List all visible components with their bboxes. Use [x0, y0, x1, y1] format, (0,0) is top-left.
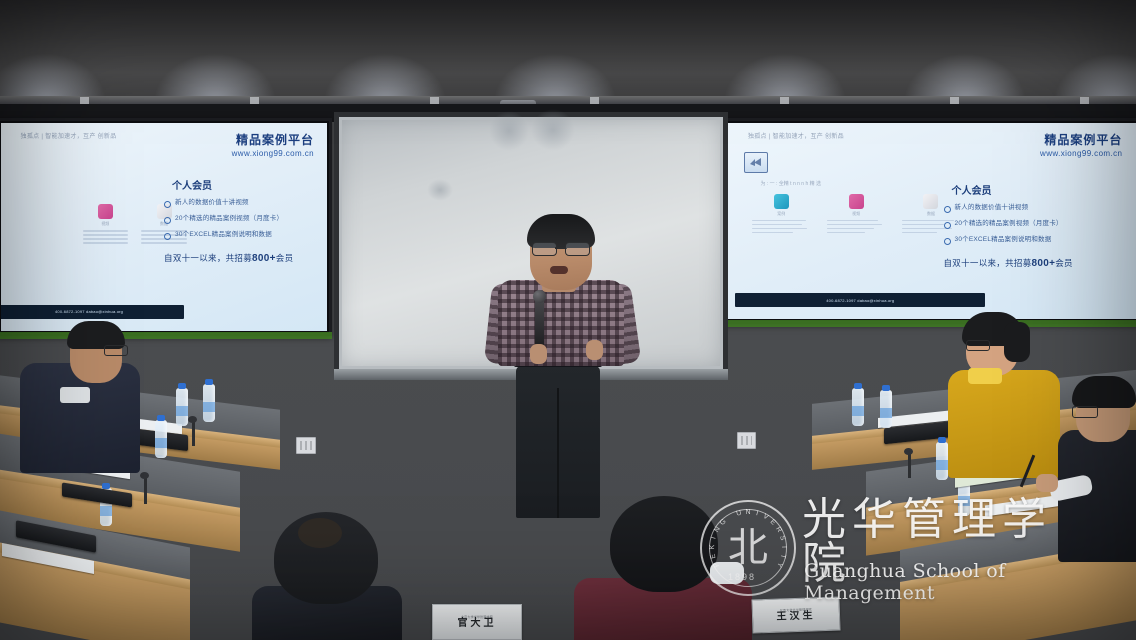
water-bottle — [176, 388, 188, 426]
slide-footer: 自双十一以来，共招募800+会员 — [164, 252, 320, 264]
slide-bullet: 20个精选的精品案例视频（月度卡） — [944, 220, 1127, 229]
slide-contact-bar: 400-6872-1097 dabao@xinhua.org — [735, 293, 985, 307]
case-icon — [98, 204, 113, 219]
wall-outlet-left — [296, 437, 316, 454]
bullet-circle-icon — [164, 201, 171, 208]
eyeglasses-icon — [1072, 406, 1098, 418]
slide-contact-bar: 400-6872-1097 dabao@xinhua.org — [1, 305, 184, 319]
wall-outlet-right — [737, 432, 756, 449]
presentation-pointer-icon — [744, 152, 768, 173]
eyeglasses-icon — [966, 340, 990, 351]
slide-section-title: 个人会员 — [944, 182, 1127, 197]
panelist-left — [20, 325, 150, 475]
slide-brand-url: www.xiong99.com.cn — [232, 149, 314, 158]
desk-microphone — [908, 452, 911, 478]
slide-sub-line: 为 : 一 : 全精 t n n n h 精 选 — [760, 180, 821, 187]
lecture-hall-video-frame: 独孤点 | 智能加速才，互产 创新品 精品案例平台 www.xiong99.co… — [0, 0, 1136, 640]
case-icon — [849, 194, 864, 209]
slide-right: 独孤点 | 智能加速才，互产 创新品 精品案例平台 www.xiong99.co… — [723, 123, 1136, 319]
presenter — [480, 218, 645, 518]
slide-bullet: 新人的数据价值十讲视频 — [944, 204, 1127, 213]
slide-bullet: 新人的数据价值十讲视频 — [164, 199, 320, 208]
water-bottle — [203, 384, 215, 422]
nameplate-left: 北京大学光华管理学院 官大卫 — [432, 604, 522, 640]
nameplate-right: 北京大学光华管理学院 王汉生 — [751, 596, 840, 633]
slide-bullet: 20个精选的精品案例视频（月度卡） — [164, 215, 320, 224]
slide-section-title: 个人会员 — [164, 177, 320, 192]
water-bottle — [880, 390, 892, 428]
bullet-circle-icon — [944, 222, 951, 229]
bullet-circle-icon — [944, 238, 951, 245]
slide-brand-title: 精品案例平台 — [1040, 131, 1122, 148]
slide-card: 视频 — [83, 204, 129, 246]
projection-screen-right: 独孤点 | 智能加速才，互产 创新品 精品案例平台 www.xiong99.co… — [718, 118, 1136, 324]
projection-screen-left: 独孤点 | 智能加速才，互产 创新品 精品案例平台 www.xiong99.co… — [0, 118, 332, 336]
attendee-right — [1062, 382, 1136, 562]
ceiling — [0, 0, 1136, 104]
slide-brand-url: www.xiong99.com.cn — [1040, 149, 1122, 158]
slide-header-note: 独孤点 | 智能加速才，互产 创新品 — [748, 131, 844, 140]
slide-footer: 自双十一以来，共招募800+会员 — [944, 257, 1127, 269]
hand — [1036, 474, 1058, 492]
attendee-front-left — [262, 512, 392, 640]
slide-bullet: 30个EXCEL精品案例说明和数据 — [164, 231, 320, 240]
desk-microphone-head — [904, 448, 913, 455]
slide-brand: 精品案例平台 www.xiong99.com.cn — [1040, 131, 1122, 158]
desk-microphone — [144, 476, 147, 504]
shirt-collar — [710, 562, 744, 584]
water-bottle — [852, 388, 864, 426]
water-bottle — [155, 420, 167, 458]
eyeglasses-icon — [104, 345, 128, 356]
slide-brand: 精品案例平台 www.xiong99.com.cn — [232, 131, 314, 158]
slide-brand-title: 精品案例平台 — [232, 131, 314, 148]
slide-header-note: 独孤点 | 智能加速才，互产 创新品 — [21, 131, 117, 140]
desk-microphone — [192, 420, 195, 446]
eyeglasses-icon — [532, 242, 590, 254]
slide-bullet: 30个EXCEL精品案例说明和数据 — [944, 236, 1127, 245]
slide-card: 案例 — [752, 194, 810, 236]
attendee-front-right — [588, 496, 738, 640]
bullet-circle-icon — [164, 217, 171, 224]
slide-left: 独孤点 | 智能加速才，互产 创新品 精品案例平台 www.xiong99.co… — [1, 123, 327, 331]
water-bottle — [936, 442, 948, 480]
video-icon — [774, 194, 789, 209]
slide-card: 视频 — [827, 194, 885, 236]
data-icon — [923, 194, 938, 209]
bullet-circle-icon — [944, 206, 951, 213]
desk-microphone-head — [188, 416, 197, 423]
bullet-circle-icon — [164, 233, 171, 240]
